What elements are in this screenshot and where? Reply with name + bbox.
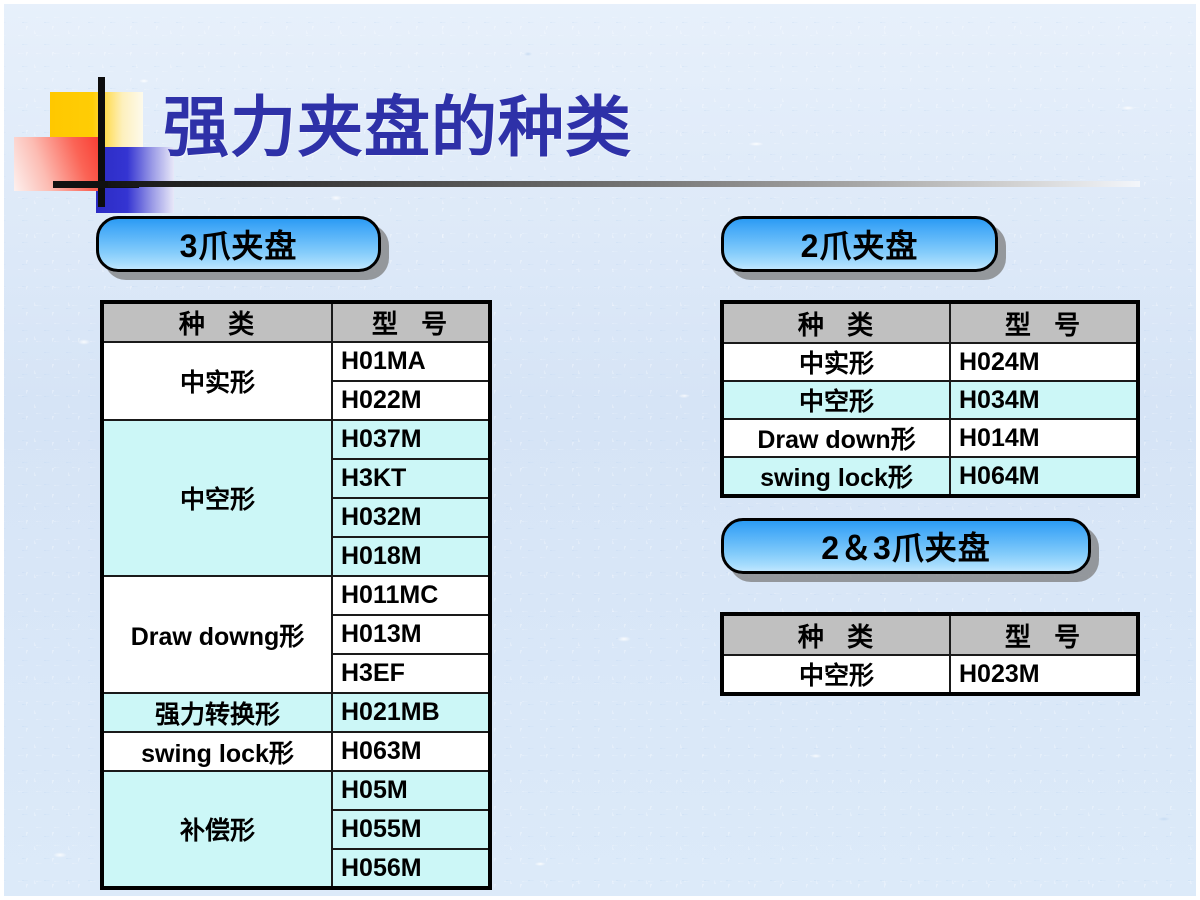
cell-model: H022M [332,381,490,420]
cell-model: H011MC [332,576,490,615]
cell-category: 强力转换形 [102,693,332,732]
column-header-category: 种 类 [722,614,950,655]
section-pill-three-jaw[interactable]: 3爪夹盘 [96,216,381,272]
cell-category: swing lock形 [722,457,950,496]
table-row: 中空形H023M [722,655,1138,694]
table-body: 中实形H024M中空形H034MDraw down形H014Mswing loc… [722,343,1138,496]
table-header-row: 种 类型 号 [102,302,490,342]
table-row: swing lock形H064M [722,457,1138,496]
table-row: 中空形H037M [102,420,490,459]
column-header-category: 种 类 [722,302,950,343]
cell-model: H014M [950,419,1138,457]
cell-model: H3KT [332,459,490,498]
title-underline-rule [108,181,1140,187]
cell-category: Draw down形 [722,419,950,457]
cell-model: H013M [332,615,490,654]
cell-model: H018M [332,537,490,576]
table-body: 中实形H01MAH022M中空形H037MH3KTH032MH018MDraw … [102,342,490,888]
cell-model: H023M [950,655,1138,694]
column-header-model: 型 号 [332,302,490,342]
cell-model: H024M [950,343,1138,381]
table-row: 中实形H01MA [102,342,490,381]
cell-category: swing lock形 [102,732,332,771]
cell-model: H034M [950,381,1138,419]
cell-category: 补偿形 [102,771,332,888]
cell-category: 中空形 [102,420,332,576]
cell-model: H01MA [332,342,490,381]
section-pill-label: 2＆3爪夹盘 [821,523,991,569]
table-row: Draw downg形H011MC [102,576,490,615]
section-pill-label: 3爪夹盘 [180,221,298,267]
cell-model: H063M [332,732,490,771]
cell-model: H021MB [332,693,490,732]
table-header-row: 种 类型 号 [722,614,1138,655]
cell-model: H056M [332,849,490,888]
table-row: 中空形H034M [722,381,1138,419]
cell-model: H037M [332,420,490,459]
chuck-table-three-jaw: 种 类型 号 中实形H01MAH022M中空形H037MH3KTH032MH01… [100,300,492,890]
cell-category: Draw downg形 [102,576,332,693]
cell-model: H05M [332,771,490,810]
section-pill-two-jaw[interactable]: 2爪夹盘 [721,216,998,272]
cell-category: 中空形 [722,655,950,694]
cell-category: 中实形 [102,342,332,420]
section-pill-label: 2爪夹盘 [801,221,919,267]
table-row: Draw down形H014M [722,419,1138,457]
table-body: 中空形H023M [722,655,1138,694]
cell-model: H064M [950,457,1138,496]
table-row: swing lock形H063M [102,732,490,771]
cell-model: H032M [332,498,490,537]
table-header-row: 种 类型 号 [722,302,1138,343]
cell-category: 中空形 [722,381,950,419]
page-title: 强力夹盘的种类 [163,88,632,166]
table-row: 强力转换形H021MB [102,693,490,732]
column-header-category: 种 类 [102,302,332,342]
chuck-table-two-jaw: 种 类型 号 中实形H024M中空形H034MDraw down形H014Msw… [720,300,1140,498]
table-row: 补偿形H05M [102,771,490,810]
slide-canvas: 强力夹盘的种类 3爪夹盘 2爪夹盘 2＆3爪夹盘 种 类型 号 中实形H01MA… [0,0,1200,900]
chuck-table-two-and-three-jaw: 种 类型 号 中空形H023M [720,612,1140,696]
section-pill-two-and-three-jaw[interactable]: 2＆3爪夹盘 [721,518,1091,574]
table-header-row: 种 类型 号 [722,302,1138,343]
cell-model: H3EF [332,654,490,693]
column-header-model: 型 号 [950,302,1138,343]
column-header-model: 型 号 [950,614,1138,655]
table-header-row: 种 类型 号 [722,614,1138,655]
table-header-row: 种 类型 号 [102,302,490,342]
table-row: 中实形H024M [722,343,1138,381]
cell-model: H055M [332,810,490,849]
cell-category: 中实形 [722,343,950,381]
